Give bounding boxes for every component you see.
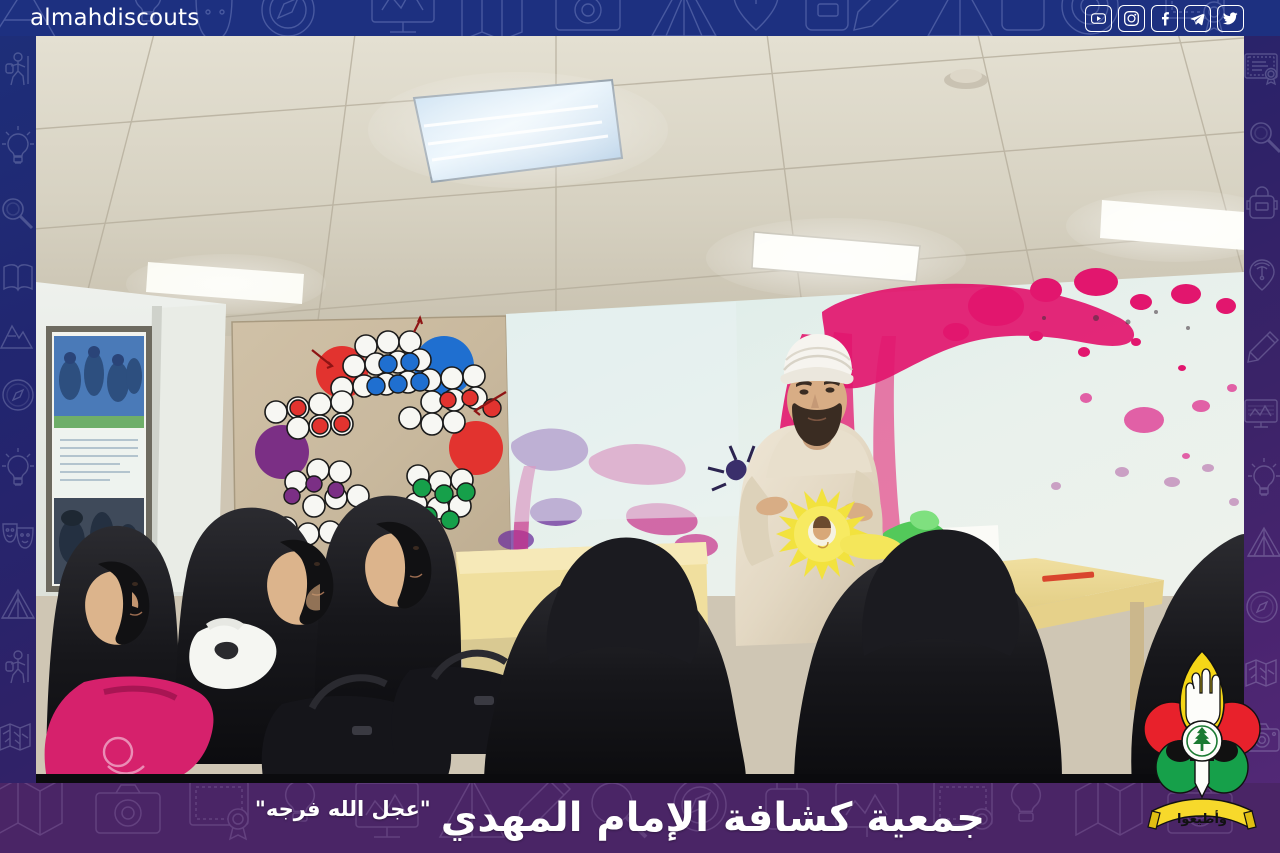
header-bar: almahdiscouts [0,0,1280,36]
instagram-icon[interactable] [1118,5,1145,32]
twitter-icon[interactable] [1217,5,1244,32]
footer-banner: جمعية كشافة الإمام المهدي "عجل الله فرجه… [0,783,1280,853]
social-links[interactable] [1085,5,1244,32]
youtube-icon[interactable] [1085,5,1112,32]
banner-title-quote: "عجل الله فرجه" [255,797,431,821]
facebook-icon[interactable] [1151,5,1178,32]
banner-title-main: جمعية كشافة الإمام المهدي [441,795,985,841]
brand-name: almahdiscouts [30,2,199,34]
post-frame: almahdiscouts [0,0,1280,853]
logo-ribbon-text: وأطيعوا [1177,810,1227,827]
event-photo: Cleric in white turban and beige robe sh… [36,36,1244,784]
telegram-icon[interactable] [1184,5,1211,32]
banner-title: جمعية كشافة الإمام المهدي "عجل الله فرجه… [0,783,1280,853]
al-mahdi-scouts-emblem: وأطيعوا [1142,633,1262,843]
